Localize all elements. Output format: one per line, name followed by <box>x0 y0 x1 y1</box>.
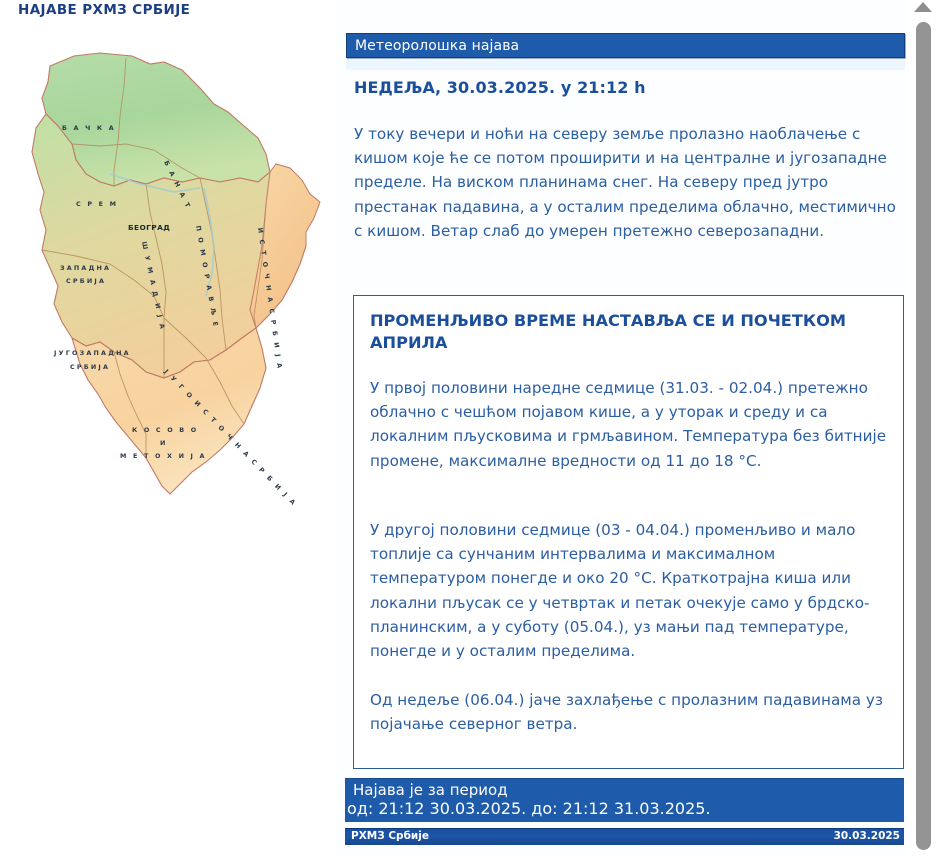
source-date: 30.03.2025 <box>834 830 900 842</box>
serbia-regions-map[interactable]: Б А Ч К А Б А Н А Т С Р Е М БЕОГРАД ЗАПА… <box>14 42 332 512</box>
outlook-paragraph-2: У другој половини седмице (03 - 04.04.) … <box>370 518 892 663</box>
bulletin-intro-text: У току вечери и ноћи на северу земље про… <box>354 122 902 243</box>
map-label-zapadna-srbija: ЗАПАДНА <box>60 264 111 272</box>
map-label-kosovo-3: М Е Т О Х И Ј А <box>120 452 207 460</box>
source-name: РХМЗ Србије <box>351 830 429 842</box>
outlook-heading: ПРОМЕНЉИВО ВРЕМЕ НАСТАВЉА СЕ И ПОЧЕТКОМ … <box>370 310 870 354</box>
page-title: НАЈАВЕ РХМЗ СРБИЈЕ <box>18 2 190 18</box>
outlook-box: ПРОМЕНЉИВО ВРЕМЕ НАСТАВЉА СЕ И ПОЧЕТКОМ … <box>353 295 904 769</box>
outlook-paragraph-3: Од недеље (06.04.) јаче захлађење с прол… <box>370 688 892 736</box>
bulletin-titlebar-label: Метеоролошка најава <box>347 38 519 54</box>
scrollbar-thumb[interactable] <box>916 22 931 850</box>
map-label-kosovo-2: И <box>160 439 168 447</box>
map-svg: Б А Ч К А Б А Н А Т С Р Е М БЕОГРАД ЗАПА… <box>14 42 332 512</box>
map-label-jugozapadna-srbija-2: СРБИЈА <box>70 363 110 371</box>
validity-period-range: од: 21:12 30.03.2025. до: 21:12 31.03.20… <box>347 799 711 818</box>
map-label-beograd: БЕОГРАД <box>128 223 170 232</box>
bulletin-titlebar: Метеоролошка најава <box>346 33 905 58</box>
map-label-srem: С Р Е М <box>76 200 118 208</box>
left-column: НАЈАВЕ РХМЗ СРБИЈЕ <box>0 0 336 856</box>
validity-period-label: Најава је за период <box>353 781 508 799</box>
scroll-up-arrow-icon[interactable] <box>914 2 932 12</box>
source-strip: РХМЗ Србије 30.03.2025 <box>345 828 904 845</box>
vertical-scrollbar[interactable] <box>908 0 940 856</box>
titlebar-underlay <box>346 58 905 70</box>
map-label-backa: Б А Ч К А <box>62 124 116 132</box>
validity-period-bar: Најава је за период од: 21:12 30.03.2025… <box>345 778 904 822</box>
bulletin-date-heading: НЕДЕЉА, 30.03.2025. у 21:12 h <box>354 78 894 97</box>
map-label-zapadna-srbija-2: СРБИЈА <box>66 277 106 285</box>
map-label-kosovo: К О С О В О <box>132 426 198 434</box>
map-label-jugozapadna-srbija: ЈУГОЗАПАДНА <box>53 349 131 357</box>
outlook-paragraph-1: У првој половини наредне седмице (31.03.… <box>370 376 892 473</box>
